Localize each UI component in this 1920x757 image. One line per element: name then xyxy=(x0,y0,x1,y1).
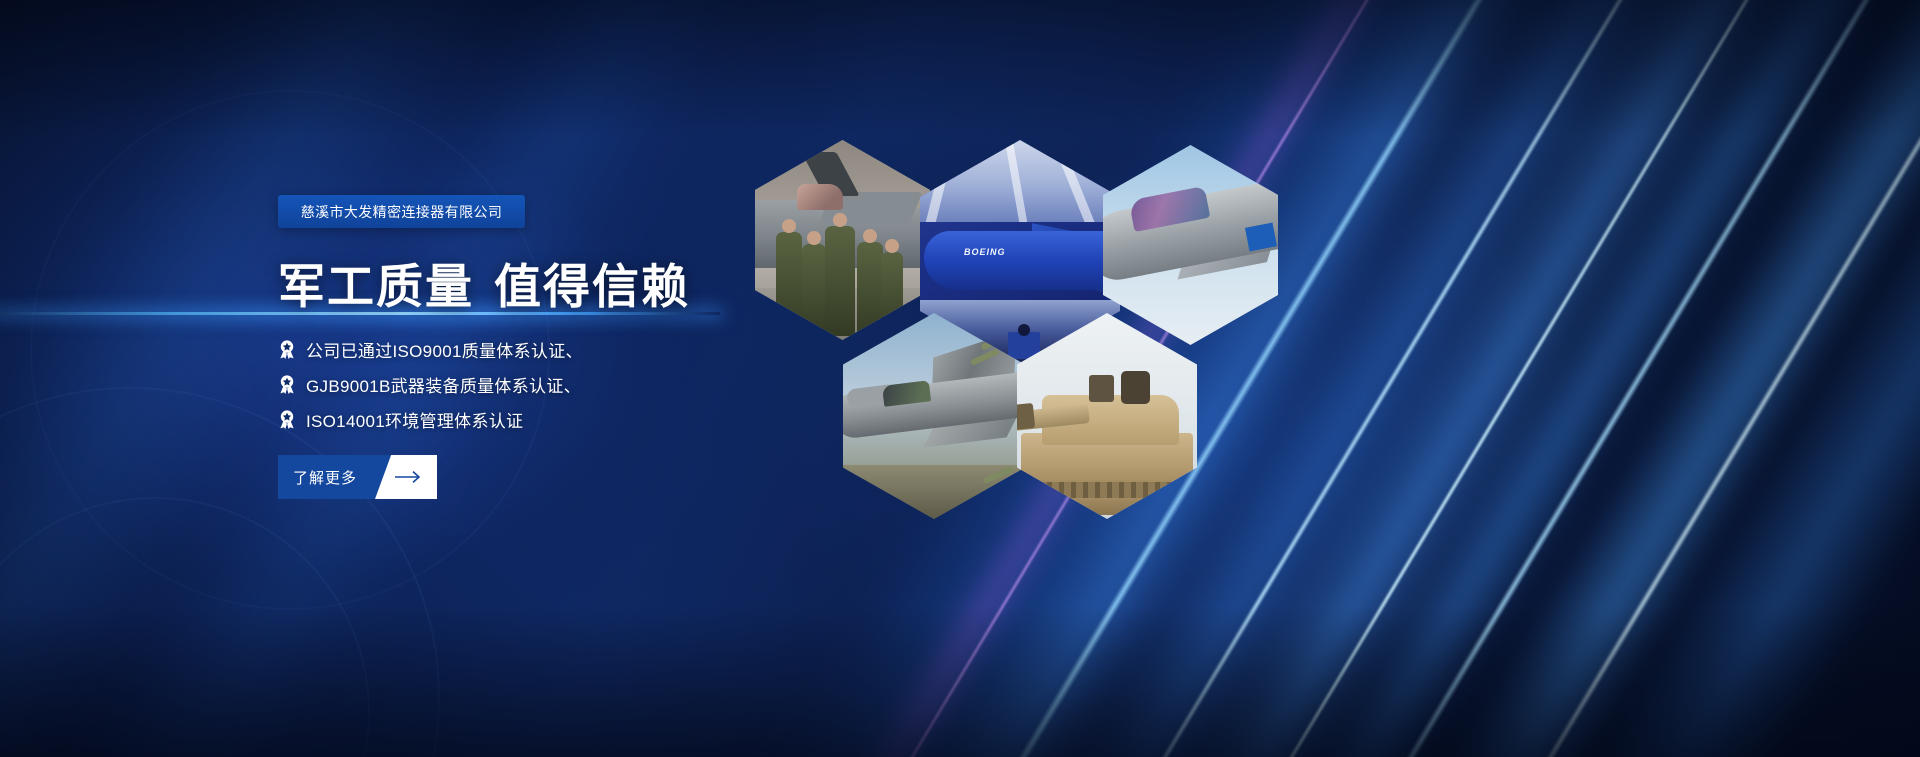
company-name-text: 慈溪市大发精密连接器有限公司 xyxy=(301,202,503,222)
certification-text: GJB9001B武器装备质量体系认证、 xyxy=(306,372,581,397)
headline-part-2: 值得信赖 xyxy=(494,260,690,313)
medal-icon xyxy=(278,375,296,394)
page-title: 军工质量值得信赖 xyxy=(278,248,690,317)
medal-icon xyxy=(278,340,296,359)
list-item: 公司已通过ISO9001质量体系认证、 xyxy=(278,332,583,367)
list-item: GJB9001B武器装备质量体系认证、 xyxy=(278,367,583,402)
headline-part-1: 军工质量 xyxy=(278,260,474,313)
hero-banner: 慈溪市大发精密连接器有限公司 军工质量值得信赖 公司已通过ISO9001质量体系… xyxy=(0,0,1920,757)
certification-text: ISO14001环境管理体系认证 xyxy=(306,407,523,432)
certification-list: 公司已通过ISO9001质量体系认证、 GJB9001B武器装备质量体系认证、 xyxy=(278,332,583,437)
image-pilots-stealth-fighter xyxy=(755,140,930,340)
learn-more-button[interactable]: 了解更多 xyxy=(278,455,437,499)
learn-more-label: 了解更多 xyxy=(293,455,357,499)
image-fighter-cockpit xyxy=(1103,145,1278,345)
company-name-badge: 慈溪市大发精密连接器有限公司 xyxy=(278,195,525,228)
certification-text: 公司已通过ISO9001质量体系认证、 xyxy=(306,337,583,362)
hex-fighter-cockpit[interactable] xyxy=(1103,145,1278,345)
boeing-logo-text: BOEING xyxy=(964,247,1006,257)
list-item: ISO14001环境管理体系认证 xyxy=(278,402,583,437)
medal-icon xyxy=(278,410,296,429)
hex-pilots-stealth-fighter[interactable] xyxy=(755,140,930,340)
hexagon-image-cluster: BOEING xyxy=(755,135,1295,495)
